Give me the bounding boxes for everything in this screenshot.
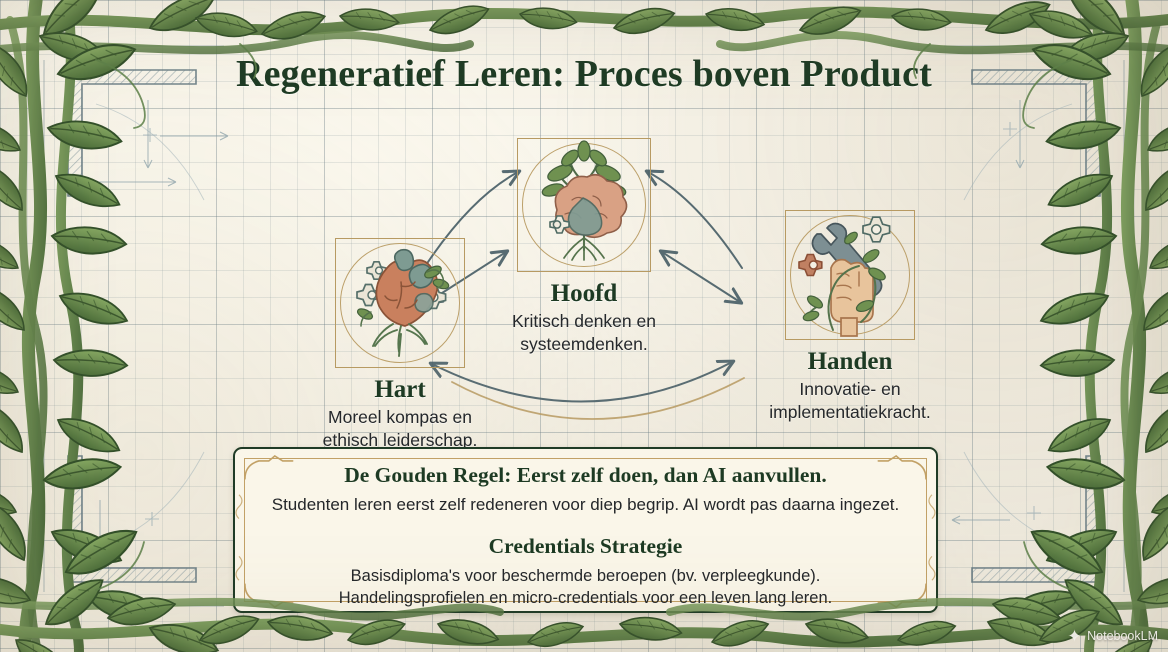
heart-roots-gear-icon xyxy=(335,238,465,368)
notebooklm-spark-icon xyxy=(1067,628,1082,643)
golden-rule-heading: De Gouden Regel: Eerst zelf doen, dan AI… xyxy=(344,463,827,489)
node-handen-description: Innovatie- en implementatiekracht. xyxy=(700,378,1000,424)
credentials-line-2: Handelingsprofielen en micro-credentials… xyxy=(339,587,832,610)
node-hart-desc-line-1: Moreel kompas en xyxy=(250,406,550,429)
page-title: Regeneratief Leren: Proces boven Product xyxy=(0,52,1168,96)
credentials-heading: Credentials Strategie xyxy=(489,534,683,560)
node-hart[interactable]: Hart Moreel kompas en ethisch leiderscha… xyxy=(250,238,550,452)
node-hart-heading: Hart xyxy=(250,377,550,403)
node-hart-description: Moreel kompas en ethisch leiderschap. xyxy=(250,406,550,452)
summary-panel: De Gouden Regel: Eerst zelf doen, dan AI… xyxy=(233,447,938,613)
notebooklm-watermark: NotebookLM xyxy=(1067,628,1158,643)
node-handen-desc-line-1: Innovatie- en xyxy=(700,378,1000,401)
node-handen-desc-line-2: implementatiekracht. xyxy=(700,401,1000,424)
node-handen[interactable]: Handen Innovatie- en implementatiekracht… xyxy=(700,210,1000,424)
credentials-line-1: Basisdiploma's voor beschermde beroepen … xyxy=(351,565,821,588)
fist-wrench-gear-icon xyxy=(785,210,915,340)
infographic-poster: Regeneratief Leren: Proces boven Product xyxy=(0,0,1168,652)
golden-rule-body: Studenten leren eerst zelf redeneren voo… xyxy=(272,494,900,516)
watermark-label: NotebookLM xyxy=(1087,629,1158,643)
node-handen-heading: Handen xyxy=(700,349,1000,375)
